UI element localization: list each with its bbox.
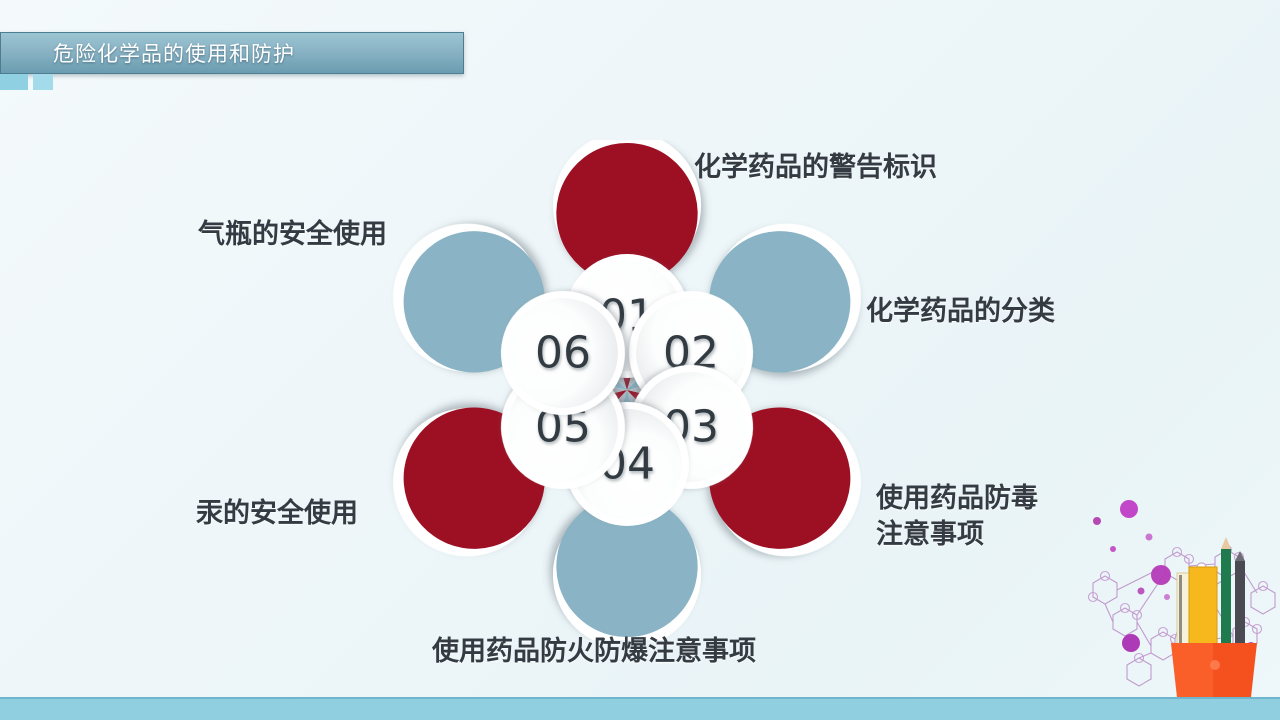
title-accent-block-right [33, 74, 53, 90]
chemistry-decoration [1065, 497, 1280, 697]
petal-01-label: 化学药品的警告标识 [694, 150, 937, 186]
petal-wheel-diagram: 01 02 03 [377, 140, 877, 640]
ruler-book-icon [1177, 573, 1193, 653]
molecule-nodes-icon [1089, 546, 1268, 663]
pen-icon [1235, 561, 1245, 655]
petal-06-label: 气瓶的安全使用 [198, 217, 387, 253]
slide-canvas: 危险化学品的使用和防护 [0, 0, 1280, 720]
petal-04-label: 使用药品防火防爆注意事项 [432, 634, 756, 670]
molecule-dots-icon [1093, 500, 1256, 677]
slide-title-text: 危险化学品的使用和防护 [53, 38, 295, 68]
molecule-network-icon [1093, 550, 1275, 686]
slide-bottom-bar [0, 697, 1280, 720]
cup-icon [1171, 643, 1257, 697]
desk-cup-illustration [1171, 537, 1257, 697]
test-tube-icon [1197, 563, 1206, 625]
petal-06-number: 06 [535, 328, 591, 379]
petal-02-label: 化学药品的分类 [866, 294, 1055, 330]
petal-03-label: 使用药品防毒 注意事项 [876, 481, 1038, 552]
green-pencil-icon [1221, 549, 1231, 655]
petal-05-label: 汞的安全使用 [196, 496, 358, 532]
yellow-book-icon [1189, 567, 1217, 655]
title-accent-block-left [0, 74, 28, 90]
slide-title-bar: 危险化学品的使用和防护 [0, 32, 464, 74]
